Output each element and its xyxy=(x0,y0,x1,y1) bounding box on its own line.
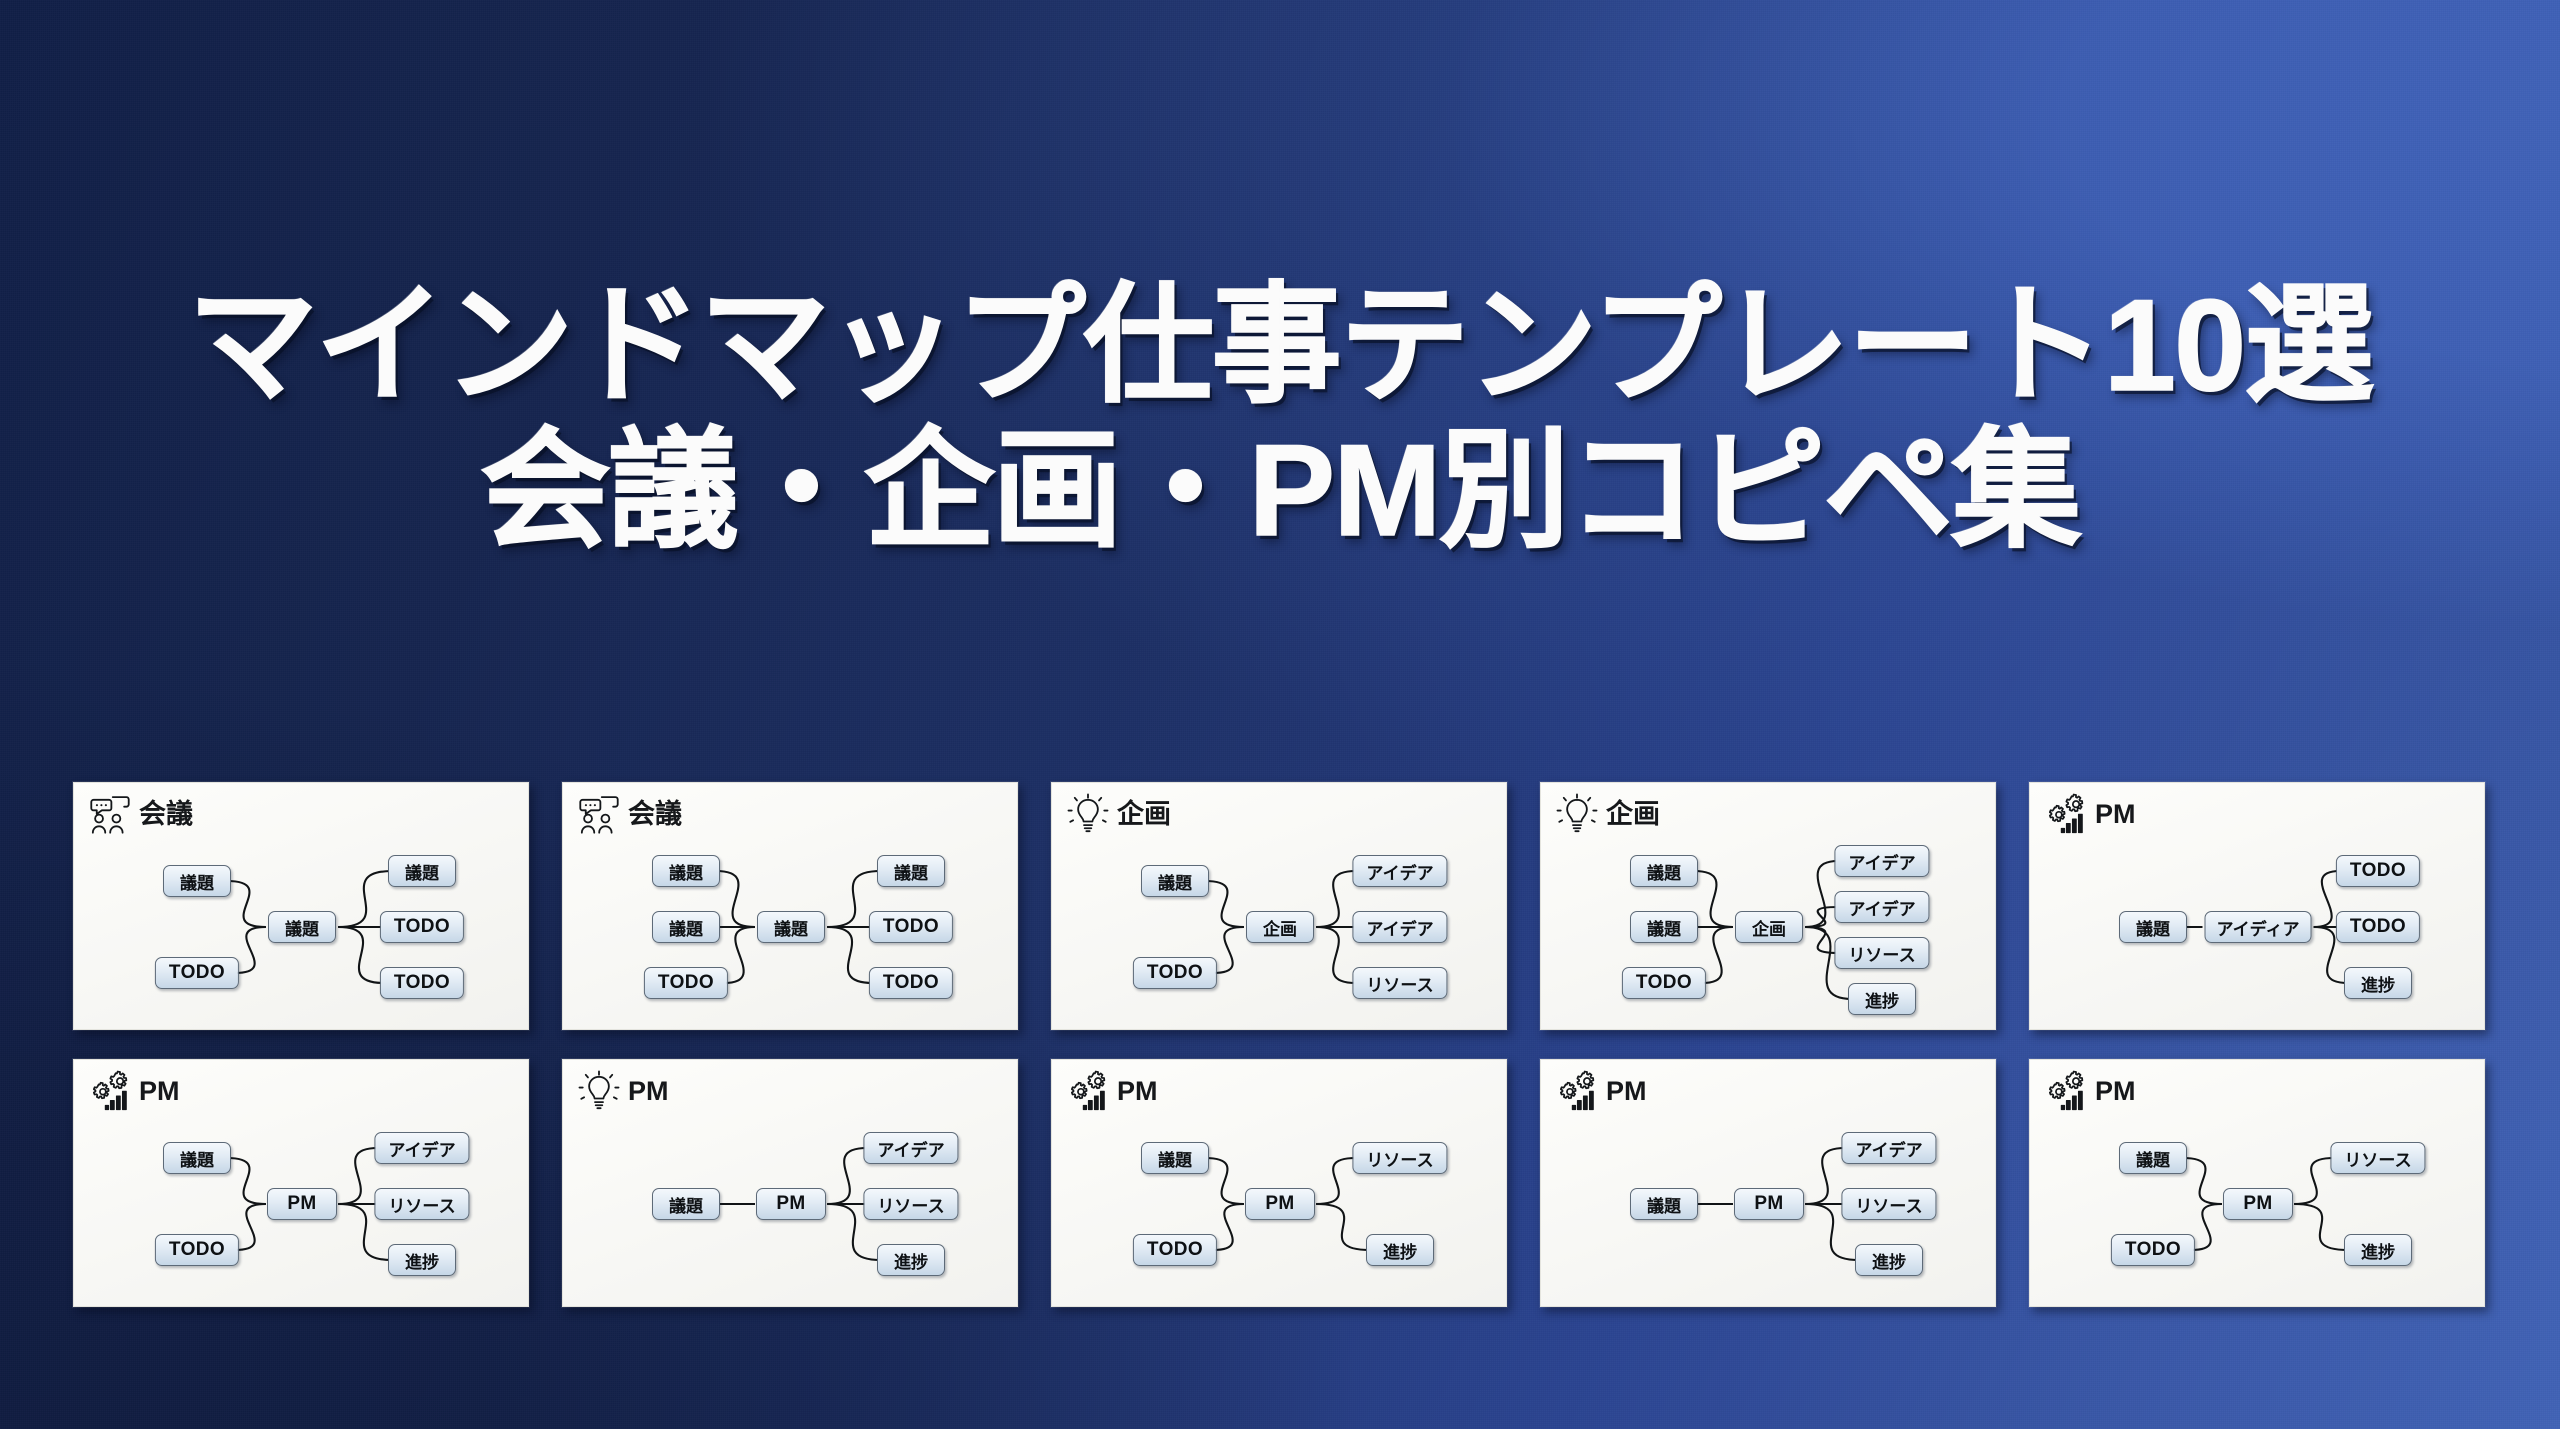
mindmap-edge xyxy=(338,1148,378,1204)
mindmap-node: 議題 xyxy=(388,855,456,887)
template-card[interactable]: PM議題TODOPMリソース進捗 xyxy=(2029,1059,2485,1307)
mindmap-node: TODO xyxy=(2336,911,2420,943)
mindmap-edge xyxy=(1205,881,1244,927)
mindmap-node: リソース xyxy=(1841,1188,1936,1220)
mindmap-edge xyxy=(235,927,266,973)
mindmap-node: TODO xyxy=(644,967,728,999)
mindmap-node: 進捗 xyxy=(1366,1234,1434,1266)
mindmap-node: アイデア xyxy=(1352,855,1447,887)
mindmap-center-node: 議題 xyxy=(757,911,825,943)
template-card[interactable]: PM議題アイディアTODOTODO進捗 xyxy=(2029,782,2485,1030)
mindmap-node: 進捗 xyxy=(1855,1244,1923,1276)
mindmap-edge xyxy=(1316,1158,1356,1204)
mindmap-node: リソース xyxy=(1834,937,1929,969)
mindmap-node: 議題 xyxy=(1141,1142,1209,1174)
mindmap: 議題PMアイデアリソース進捗 xyxy=(563,1100,1018,1307)
mindmap-node: 進捗 xyxy=(877,1244,945,1276)
template-card[interactable]: 会議議題議題TODO議題議題TODOTODO xyxy=(562,782,1018,1030)
mindmap-center-node: アイディア xyxy=(2205,911,2312,943)
mindmap-node: アイデア xyxy=(1352,911,1447,943)
mindmap-edge xyxy=(235,1204,266,1250)
mindmap-node: TODO xyxy=(155,1234,239,1266)
mindmap-node: TODO xyxy=(1133,1234,1217,1266)
mindmap-edge xyxy=(1702,927,1733,983)
mindmap-node: 議題 xyxy=(1630,1188,1698,1220)
mindmap-edge xyxy=(1316,927,1356,983)
mindmap-center-node: PM xyxy=(2223,1188,2293,1220)
mindmap-node: リソース xyxy=(863,1188,958,1220)
mindmap-edge xyxy=(1805,907,1838,927)
mindmap-edge xyxy=(1213,1204,1244,1250)
mindmap-node: リソース xyxy=(2330,1142,2425,1174)
mindmap-center-node: PM xyxy=(1245,1188,1315,1220)
mindmap-node: リソース xyxy=(1352,1142,1447,1174)
mindmap-edge xyxy=(338,927,384,983)
mindmap-node: TODO xyxy=(2111,1234,2195,1266)
mindmap-node: アイデア xyxy=(374,1132,469,1164)
mindmap-edge xyxy=(1316,1204,1370,1250)
template-card[interactable]: 企画議題TODO企画アイデアアイデアリソース xyxy=(1051,782,1507,1030)
template-card[interactable]: 会議議題TODO議題議題TODOTODO xyxy=(73,782,529,1030)
mindmap-edge xyxy=(227,881,266,927)
mindmap-edge xyxy=(1316,871,1356,927)
template-card[interactable]: PM議題TODOPMアイデアリソース進捗 xyxy=(73,1059,529,1307)
mindmap-node: 議題 xyxy=(2119,1142,2187,1174)
mindmap-node: リソース xyxy=(1352,967,1447,999)
mindmap-node: 進捗 xyxy=(388,1244,456,1276)
mindmap-center-node: 企画 xyxy=(1735,911,1803,943)
headline-block: マインドマップ仕事テンプレート10選 会議・企画・PM別コピペ集 xyxy=(0,276,2560,560)
mindmap-center-node: 企画 xyxy=(1246,911,1314,943)
mindmap-node: 議題 xyxy=(163,865,231,897)
template-card[interactable]: PM議題PMアイデアリソース進捗 xyxy=(1540,1059,1996,1307)
mindmap-node: TODO xyxy=(869,967,953,999)
mindmap-edge xyxy=(2294,1158,2334,1204)
mindmap-center-node: PM xyxy=(267,1188,337,1220)
mindmap-node: TODO xyxy=(1133,957,1217,989)
mindmap-edge xyxy=(1213,927,1244,973)
mindmap-node: TODO xyxy=(869,911,953,943)
mindmap: 議題PMアイデアリソース進捗 xyxy=(1541,1100,1996,1307)
mindmap: 議題TODOPMリソース進捗 xyxy=(1052,1100,1507,1307)
template-card[interactable]: PM議題PMアイデアリソース進捗 xyxy=(562,1059,1018,1307)
mindmap-node: TODO xyxy=(380,911,464,943)
mindmap-node: 議題 xyxy=(1630,911,1698,943)
mindmap-node: 進捗 xyxy=(2344,1234,2412,1266)
mindmap-node: アイデア xyxy=(1834,845,1929,877)
mindmap-node: 議題 xyxy=(652,1188,720,1220)
mindmap-edge xyxy=(1805,1148,1845,1204)
mindmap-center-node: PM xyxy=(1734,1188,1804,1220)
mindmap-node: 議題 xyxy=(2119,911,2187,943)
mindmap-node: TODO xyxy=(2336,855,2420,887)
mindmap-node: 議題 xyxy=(877,855,945,887)
mindmap-node: 議題 xyxy=(1141,865,1209,897)
mindmap-edge xyxy=(227,1158,266,1204)
mindmap-node: リソース xyxy=(374,1188,469,1220)
mindmap-center-node: PM xyxy=(756,1188,826,1220)
template-card[interactable]: PM議題TODOPMリソース進捗 xyxy=(1051,1059,1507,1307)
headline-line-2: 会議・企画・PM別コピペ集 xyxy=(0,421,2560,560)
mindmap-node: TODO xyxy=(380,967,464,999)
mindmap-node: 議題 xyxy=(1630,855,1698,887)
mindmap-edge xyxy=(724,927,755,983)
mindmap-edge xyxy=(2183,1158,2222,1204)
template-card-grid: 会議議題TODO議題議題TODOTODO 会議議題議題TODO議題議題TODOT… xyxy=(73,782,2485,1307)
template-card[interactable]: 企画議題議題TODO企画アイデアアイデアリソース進捗 xyxy=(1540,782,1996,1030)
mindmap-node: TODO xyxy=(155,957,239,989)
mindmap-edge xyxy=(1205,1158,1244,1204)
mindmap: 議題議題TODO企画アイデアアイデアリソース進捗 xyxy=(1541,823,1996,1030)
mindmap: 議題議題TODO議題議題TODOTODO xyxy=(563,823,1018,1030)
mindmap-node: 議題 xyxy=(163,1142,231,1174)
mindmap-node: アイデア xyxy=(1841,1132,1936,1164)
mindmap: 議題TODOPMリソース進捗 xyxy=(2030,1100,2485,1307)
mindmap-node: アイデア xyxy=(863,1132,958,1164)
mindmap-node: 議題 xyxy=(652,855,720,887)
mindmap-edge xyxy=(2191,1204,2222,1250)
mindmap: 議題TODO議題議題TODOTODO xyxy=(74,823,529,1030)
mindmap-node: 進捗 xyxy=(1848,983,1916,1015)
mindmap-edge xyxy=(827,927,873,983)
mindmap-center-node: 議題 xyxy=(268,911,336,943)
mindmap-edge xyxy=(1694,871,1733,927)
mindmap-node: TODO xyxy=(1622,967,1706,999)
mindmap: 議題TODOPMアイデアリソース進捗 xyxy=(74,1100,529,1307)
mindmap-edge xyxy=(716,871,755,927)
mindmap-edge xyxy=(827,1148,867,1204)
mindmap: 議題アイディアTODOTODO進捗 xyxy=(2030,823,2485,1030)
headline-line-1: マインドマップ仕事テンプレート10選 xyxy=(0,276,2560,415)
mindmap-node: 進捗 xyxy=(2344,967,2412,999)
mindmap: 議題TODO企画アイデアアイデアリソース xyxy=(1052,823,1507,1030)
mindmap-node: 議題 xyxy=(652,911,720,943)
mindmap-node: アイデア xyxy=(1834,891,1929,923)
mindmap-edge xyxy=(2294,1204,2348,1250)
